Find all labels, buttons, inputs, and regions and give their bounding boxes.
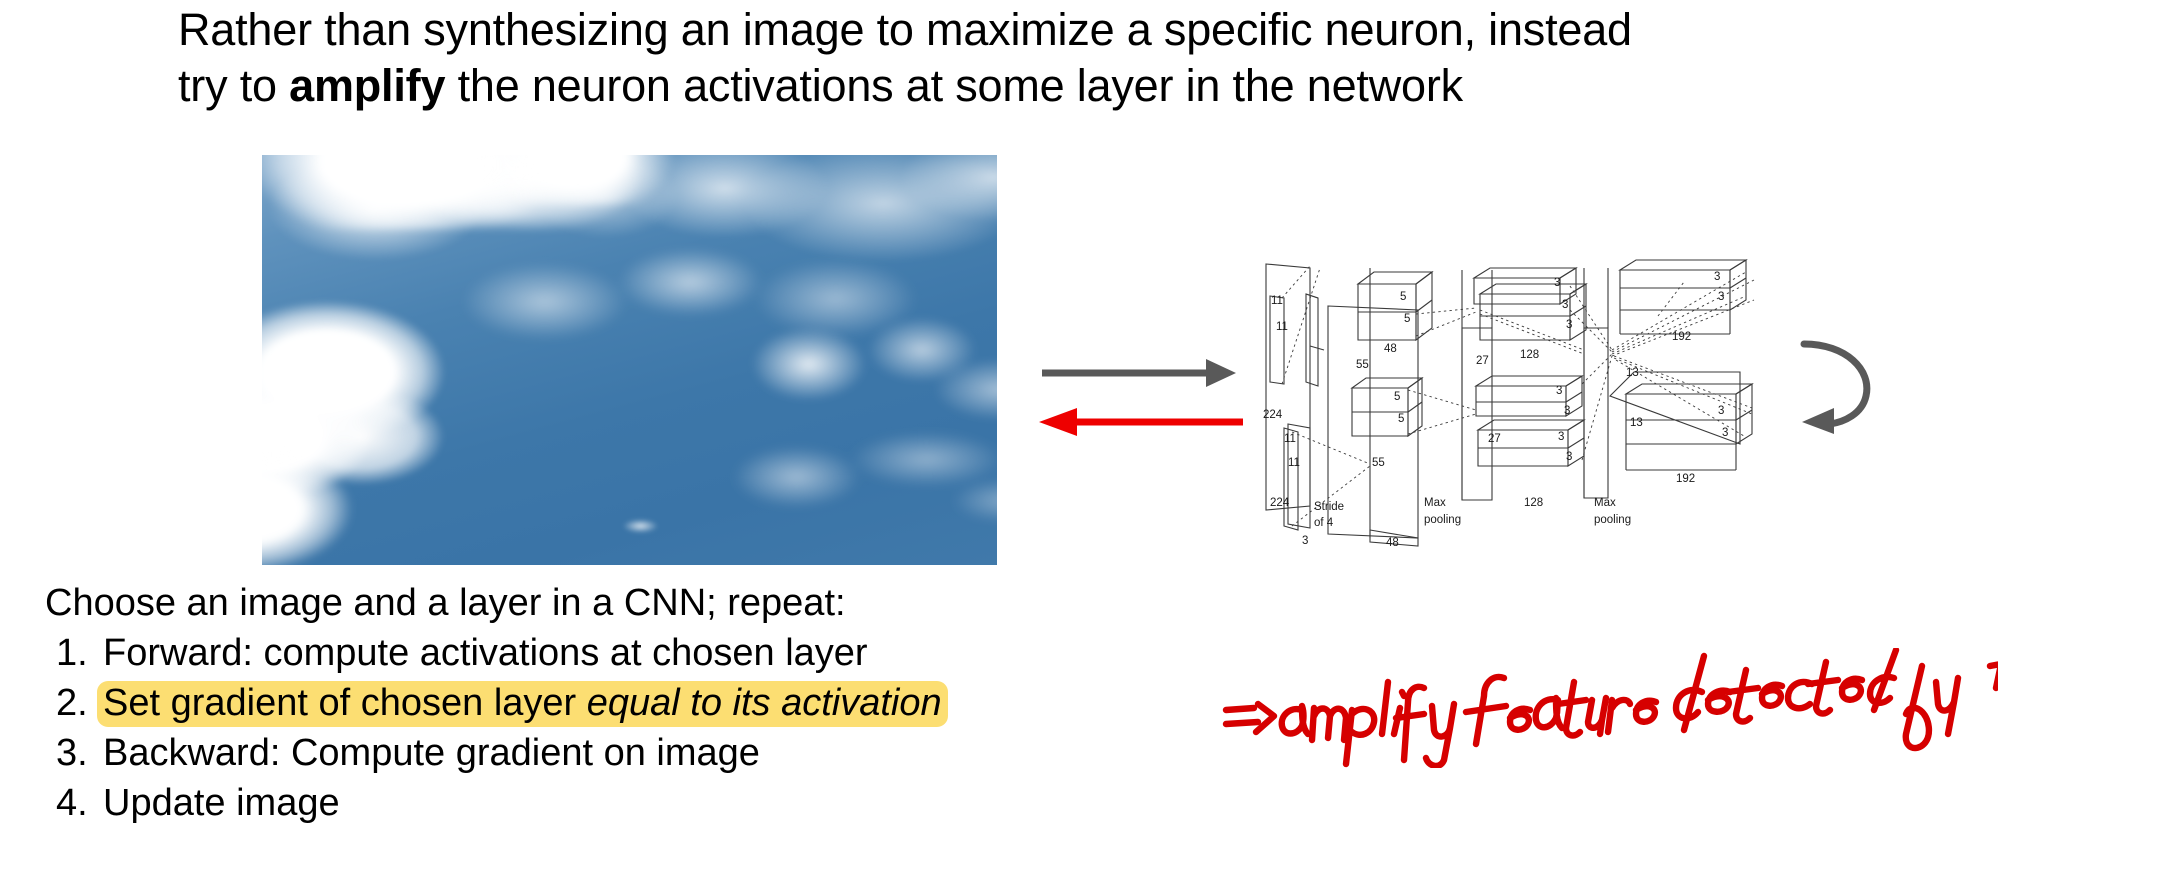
svg-text:48: 48	[1384, 343, 1397, 355]
svg-text:3: 3	[1566, 319, 1572, 331]
svg-text:11: 11	[1288, 457, 1300, 469]
step-number: 3.	[45, 728, 103, 778]
svg-text:192: 192	[1672, 331, 1691, 343]
svg-text:5: 5	[1398, 413, 1404, 425]
step-text: Backward: Compute gradient on image	[103, 728, 760, 778]
title-line-2: try to amplify the neuron activations at…	[178, 58, 2008, 114]
svg-text:128: 128	[1524, 497, 1543, 509]
svg-text:3: 3	[1562, 299, 1568, 311]
svg-text:11: 11	[1284, 433, 1296, 445]
svg-text:3: 3	[1722, 427, 1728, 439]
svg-text:27: 27	[1476, 355, 1489, 367]
title-line-1: Rather than synthesizing an image to max…	[178, 2, 2008, 58]
svg-text:5: 5	[1400, 291, 1406, 303]
backward-arrow-icon	[1035, 405, 1245, 444]
svg-text:3: 3	[1554, 277, 1560, 289]
step-text: Update image	[103, 778, 340, 828]
svg-text:224: 224	[1263, 409, 1283, 421]
title-line-1-text: Rather than synthesizing an image to max…	[178, 4, 1632, 55]
svg-text:5: 5	[1404, 313, 1410, 325]
svg-text:3: 3	[1564, 405, 1570, 417]
svg-text:55: 55	[1372, 457, 1385, 469]
slide-title: Rather than synthesizing an image to max…	[178, 2, 2008, 114]
svg-text:3: 3	[1718, 291, 1724, 303]
step-number: 2.	[45, 678, 103, 728]
cloud-speck	[615, 516, 666, 537]
step-text-plain: Set gradient of chosen layer	[103, 682, 587, 724]
svg-text:of 4: of 4	[1314, 517, 1334, 529]
svg-text:48: 48	[1386, 537, 1399, 549]
title-line-2-pre: try to	[178, 60, 289, 111]
svg-text:3: 3	[1302, 535, 1308, 547]
svg-text:pooling: pooling	[1424, 514, 1461, 526]
alexnet-architecture-diagram: 11 11 224 11 11 224 Stride of 4 3 55 55 …	[1248, 238, 1778, 578]
svg-text:13: 13	[1626, 367, 1639, 379]
list-item: 1. Forward: compute activations at chose…	[45, 628, 1345, 678]
list-item: 2. Set gradient of chosen layer equal to…	[45, 678, 1345, 728]
svg-text:224: 224	[1270, 497, 1290, 509]
svg-text:13: 13	[1630, 417, 1643, 429]
list-item: 3. Backward: Compute gradient on image	[45, 728, 1345, 778]
step-text-italic: equal to its activation	[587, 682, 942, 724]
svg-text:192: 192	[1676, 473, 1695, 485]
procedure-intro: Choose an image and a layer in a CNN; re…	[45, 578, 1345, 628]
svg-text:11: 11	[1271, 295, 1283, 307]
procedure-block: Choose an image and a layer in a CNN; re…	[45, 578, 1345, 828]
step-number: 4.	[45, 778, 103, 828]
sky-photo	[262, 155, 997, 565]
cumulus-cloud-bottom-left	[262, 450, 365, 565]
svg-text:27: 27	[1488, 433, 1501, 445]
cumulus-cloud-top-center	[453, 155, 703, 204]
title-emphasis-amplify: amplify	[289, 60, 445, 111]
cloud-right-lower	[659, 409, 997, 557]
svg-text:3: 3	[1714, 271, 1720, 283]
svg-text:3: 3	[1718, 405, 1724, 417]
svg-text:11: 11	[1276, 321, 1288, 333]
svg-text:5: 5	[1394, 391, 1400, 403]
svg-text:Max: Max	[1424, 497, 1446, 509]
step-text-highlighted: Set gradient of chosen layer equal to it…	[103, 678, 948, 728]
highlight-span: Set gradient of chosen layer equal to it…	[97, 681, 948, 727]
svg-text:Stride: Stride	[1314, 501, 1344, 513]
svg-text:3: 3	[1566, 451, 1572, 463]
title-line-2-post: the neuron activations at some layer in …	[445, 60, 1463, 111]
svg-text:3: 3	[1556, 385, 1562, 397]
svg-text:55: 55	[1356, 359, 1369, 371]
svg-text:128: 128	[1520, 349, 1539, 361]
step-number: 1.	[45, 628, 103, 678]
repeat-loop-arrow-icon	[1800, 330, 1890, 445]
svg-text:pooling: pooling	[1594, 514, 1631, 526]
forward-arrow-icon	[1040, 356, 1240, 395]
svg-text:3: 3	[1558, 431, 1564, 443]
list-item: 4. Update image	[45, 778, 1345, 828]
step-text: Forward: compute activations at chosen l…	[103, 628, 868, 678]
svg-text:Max: Max	[1594, 497, 1616, 509]
